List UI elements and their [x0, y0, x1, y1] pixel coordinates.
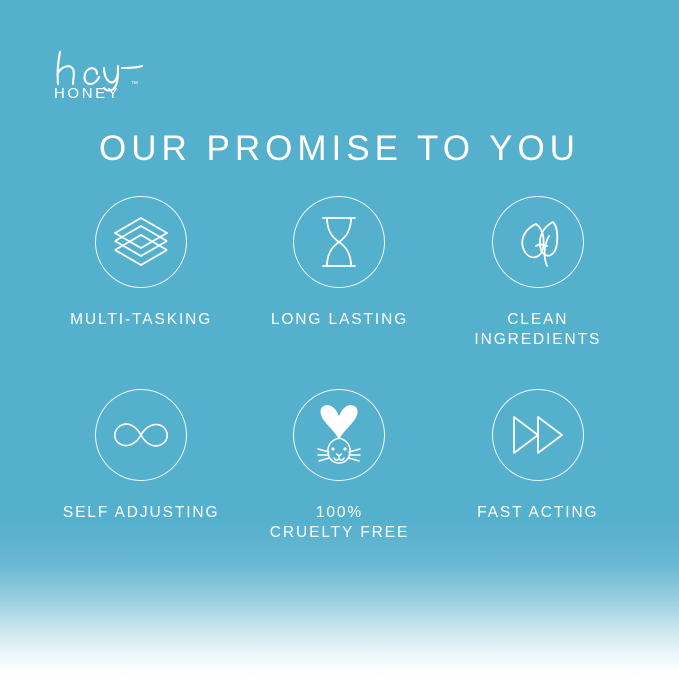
promise-item-fast-acting: FAST ACTING	[439, 389, 637, 582]
stacked-layers-icon	[95, 196, 187, 288]
infinity-icon	[95, 389, 187, 481]
fast-forward-icon	[492, 389, 584, 481]
hourglass-icon	[293, 196, 385, 288]
promise-label: MULTI-TASKING	[70, 310, 212, 330]
promise-poster: HONEY ™ OUR PROMISE TO YOU MULTI-TASKING	[0, 0, 679, 679]
promise-label: CLEAN INGREDIENTS	[474, 310, 601, 350]
bunny-heart-icon	[293, 389, 385, 481]
promise-item-multi-tasking: MULTI-TASKING	[42, 196, 240, 389]
brand-wordmark: HONEY	[54, 86, 120, 101]
trademark-symbol: ™	[131, 81, 138, 88]
promise-label: SELF ADJUSTING	[63, 503, 220, 523]
promise-item-cruelty-free: 100% CRUELTY FREE	[240, 389, 438, 582]
promise-grid: MULTI-TASKING LONG L	[42, 196, 637, 582]
promise-item-long-lasting: LONG LASTING	[240, 196, 438, 389]
promise-label: LONG LASTING	[271, 310, 408, 330]
brand-logo: HONEY ™	[52, 48, 172, 110]
page-title: OUR PROMISE TO YOU	[0, 128, 679, 170]
promise-label: 100% CRUELTY FREE	[270, 503, 409, 543]
leaves-icon	[492, 196, 584, 288]
promise-label: FAST ACTING	[477, 503, 598, 523]
promise-item-clean-ingredients: CLEAN INGREDIENTS	[439, 196, 637, 389]
promise-item-self-adjusting: SELF ADJUSTING	[42, 389, 240, 582]
